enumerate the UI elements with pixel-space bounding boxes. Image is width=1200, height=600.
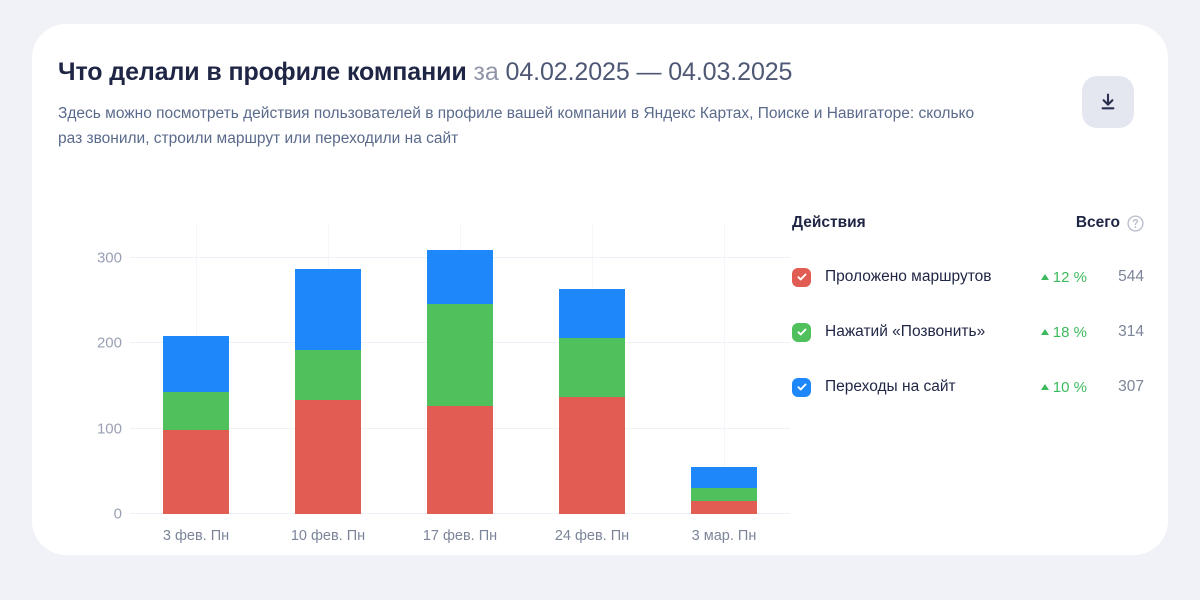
page-title-strong: Что делали в профиле компании — [58, 58, 467, 86]
y-axis-tick: 0 — [64, 506, 122, 523]
bar-segment[interactable] — [691, 488, 757, 501]
bar-stack[interactable] — [163, 336, 229, 514]
x-axis-tick: 24 фев. Пн — [532, 528, 652, 544]
x-axis-tick: 10 фев. Пн — [268, 528, 388, 544]
bar-segment[interactable] — [559, 397, 625, 514]
legend-checkbox[interactable] — [792, 268, 811, 287]
bar-segment[interactable] — [163, 430, 229, 514]
x-axis: 3 фев. Пн10 фев. Пн17 фев. Пн24 фев. Пн3… — [130, 528, 790, 552]
bar-stack[interactable] — [295, 269, 361, 514]
legend-label: Переходы на сайт — [825, 378, 1041, 396]
download-icon — [1098, 92, 1118, 113]
bar-segment[interactable] — [295, 269, 361, 350]
bar-segment[interactable] — [691, 467, 757, 488]
bar-stack[interactable] — [691, 467, 757, 514]
legend-row[interactable]: Проложено маршрутов12 %544 — [792, 254, 1144, 300]
y-axis-tick: 200 — [64, 335, 122, 352]
x-axis-tick: 17 фев. Пн — [400, 528, 520, 544]
y-axis-tick: 100 — [64, 420, 122, 437]
legend-label: Проложено маршрутов — [825, 268, 1041, 286]
legend-header: Действия Всего — [792, 210, 1144, 236]
legend-delta-value: 18 % — [1053, 324, 1087, 341]
bar-segment[interactable] — [295, 400, 361, 514]
legend-checkbox[interactable] — [792, 323, 811, 342]
legend-col-total: Всего — [1076, 214, 1120, 232]
legend-checkbox[interactable] — [792, 378, 811, 397]
report-card: Что делали в профиле компании за 04.02.2… — [32, 24, 1168, 555]
legend-delta: 10 % — [1041, 379, 1087, 396]
legend-panel: Действия Всего Проложено маршрутов12 %54… — [792, 210, 1144, 410]
plot-area — [130, 224, 790, 514]
bar-segment[interactable] — [163, 392, 229, 430]
x-axis-tick: 3 фев. Пн — [136, 528, 256, 544]
legend-rows: Проложено маршрутов12 %544Нажатий «Позво… — [792, 254, 1144, 410]
download-button[interactable] — [1082, 76, 1134, 128]
legend-total: 307 — [1098, 378, 1144, 396]
legend-total: 544 — [1098, 268, 1144, 286]
page-background: Что делали в профиле компании за 04.02.2… — [0, 0, 1200, 600]
x-axis-tick: 3 мар. Пн — [664, 528, 784, 544]
chart: 0100200300 3 фев. Пн10 фев. Пн17 фев. Пн… — [58, 210, 798, 540]
legend-delta-value: 10 % — [1053, 379, 1087, 396]
bar-segment[interactable] — [559, 289, 625, 338]
legend-row[interactable]: Переходы на сайт10 %307 — [792, 364, 1144, 410]
legend-delta: 18 % — [1041, 324, 1087, 341]
page-subtitle: Здесь можно посмотреть действия пользова… — [58, 101, 988, 151]
bar-stack[interactable] — [427, 250, 493, 514]
trend-up-icon — [1041, 274, 1049, 280]
legend-col-actions: Действия — [792, 214, 1076, 232]
legend-total: 314 — [1098, 323, 1144, 341]
help-circle-icon[interactable] — [1127, 215, 1144, 232]
page-title-date-range: 04.02.2025 — 04.03.2025 — [506, 58, 793, 86]
bar-segment[interactable] — [163, 336, 229, 392]
y-axis: 0100200300 — [58, 224, 122, 514]
bar-segment[interactable] — [295, 350, 361, 399]
page-title: Что делали в профиле компании за 04.02.2… — [58, 56, 1068, 88]
legend-delta: 12 % — [1041, 269, 1087, 286]
bar-segment[interactable] — [427, 304, 493, 406]
bar-segment[interactable] — [427, 406, 493, 514]
trend-up-icon — [1041, 384, 1049, 390]
page-title-preposition: за — [473, 58, 498, 86]
bar-segment[interactable] — [691, 501, 757, 514]
bar-segment[interactable] — [559, 338, 625, 397]
trend-up-icon — [1041, 329, 1049, 335]
y-axis-tick: 300 — [64, 250, 122, 267]
card-header: Что делали в профиле компании за 04.02.2… — [58, 56, 1068, 151]
bar-stack[interactable] — [559, 289, 625, 514]
bar-segment[interactable] — [427, 250, 493, 305]
legend-label: Нажатий «Позвонить» — [825, 323, 1041, 341]
legend-row[interactable]: Нажатий «Позвонить»18 %314 — [792, 309, 1144, 355]
legend-delta-value: 12 % — [1053, 269, 1087, 286]
